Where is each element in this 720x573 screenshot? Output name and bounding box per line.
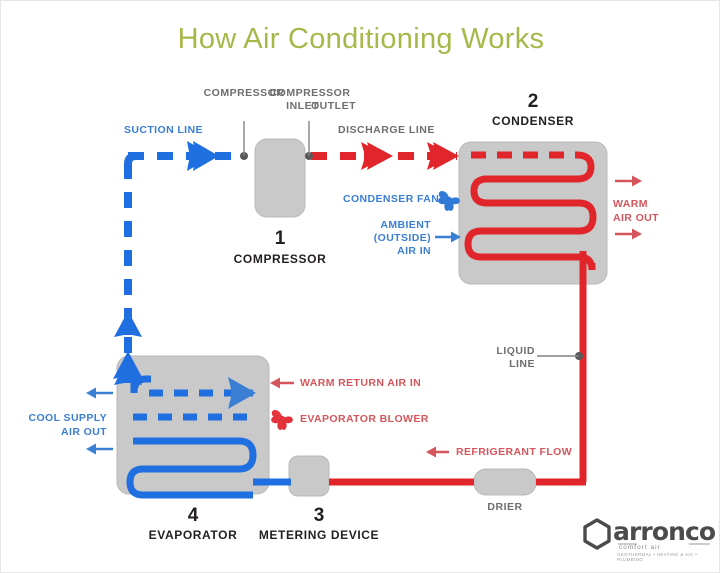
suction-line-label: SUCTION LINE — [124, 124, 203, 136]
compressor-name: COMPRESSOR — [210, 253, 350, 267]
ambient-air-label-line2: (OUTSIDE) — [331, 232, 431, 244]
warm-return-air-arrow — [270, 378, 294, 389]
liquid-line-leader — [537, 352, 583, 360]
warm-return-air-label: WARM RETURN AIR IN — [300, 377, 421, 389]
condenser-fan-icon — [438, 191, 460, 211]
compressor-outlet-label-line1: COMPRESSOR — [247, 87, 373, 99]
metering-device-name: METERING DEVICE — [249, 529, 389, 543]
condenser-name: CONDENSER — [463, 115, 603, 129]
arronco-logo: arronco comfort air GEOTHERMAL • HEATING… — [579, 519, 711, 561]
compressor-outlet-label-line2: OUTLET — [247, 100, 373, 112]
refrigerant-flow-label: REFRIGERANT FLOW — [456, 446, 572, 458]
compressor-box — [255, 139, 305, 217]
diagram-canvas: How Air Conditioning Works COMPRESSOR IN… — [0, 0, 720, 573]
cool-supply-air-arrow-top — [86, 388, 113, 399]
logo-services: GEOTHERMAL • HEATING & A/C • PLUMBING — [617, 552, 711, 562]
ambient-air-label-line1: AMBIENT — [331, 219, 431, 231]
refrigerant-flow-arrow — [426, 447, 449, 458]
compressor-outlet-leader — [305, 121, 313, 160]
metering-device-box — [289, 456, 329, 496]
page-title: How Air Conditioning Works — [1, 23, 720, 56]
warm-air-out-label-line1: WARM — [613, 198, 648, 210]
ambient-air-in-arrow — [435, 232, 461, 243]
compressor-number: 1 — [210, 228, 350, 250]
discharge-line-label: DISCHARGE LINE — [338, 124, 435, 136]
drier-label: DRIER — [455, 501, 555, 513]
warm-air-out-arrow-top — [615, 176, 642, 187]
warm-air-out-label-line2: AIR OUT — [613, 212, 659, 224]
discharge-line-path — [311, 142, 459, 170]
condenser-fan-label: CONDENSER FAN — [343, 193, 439, 205]
liquid-line-label-line2: LINE — [479, 358, 535, 370]
drier-box — [474, 469, 536, 495]
evaporator-blower-label: EVAPORATOR BLOWER — [300, 413, 429, 425]
evaporator-number: 4 — [123, 505, 263, 527]
cool-supply-air-label-line2: AIR OUT — [21, 426, 107, 438]
cool-supply-air-label-line1: COOL SUPPLY — [21, 412, 107, 424]
ambient-air-label-line3: AIR IN — [331, 245, 431, 257]
condenser-number: 2 — [463, 91, 603, 113]
metering-device-number: 3 — [249, 505, 389, 527]
liquid-line-label-line1: LIQUID — [479, 345, 535, 357]
evaporator-blower-icon — [271, 410, 293, 430]
cool-supply-air-arrow-bottom — [86, 444, 113, 455]
compressor-inlet-leader — [240, 121, 248, 160]
warm-air-out-arrow-bottom — [615, 229, 642, 240]
logo-tagline: comfort air — [619, 544, 661, 551]
evaporator-name: EVAPORATOR — [123, 529, 263, 543]
logo-wordmark: arronco — [613, 517, 715, 546]
